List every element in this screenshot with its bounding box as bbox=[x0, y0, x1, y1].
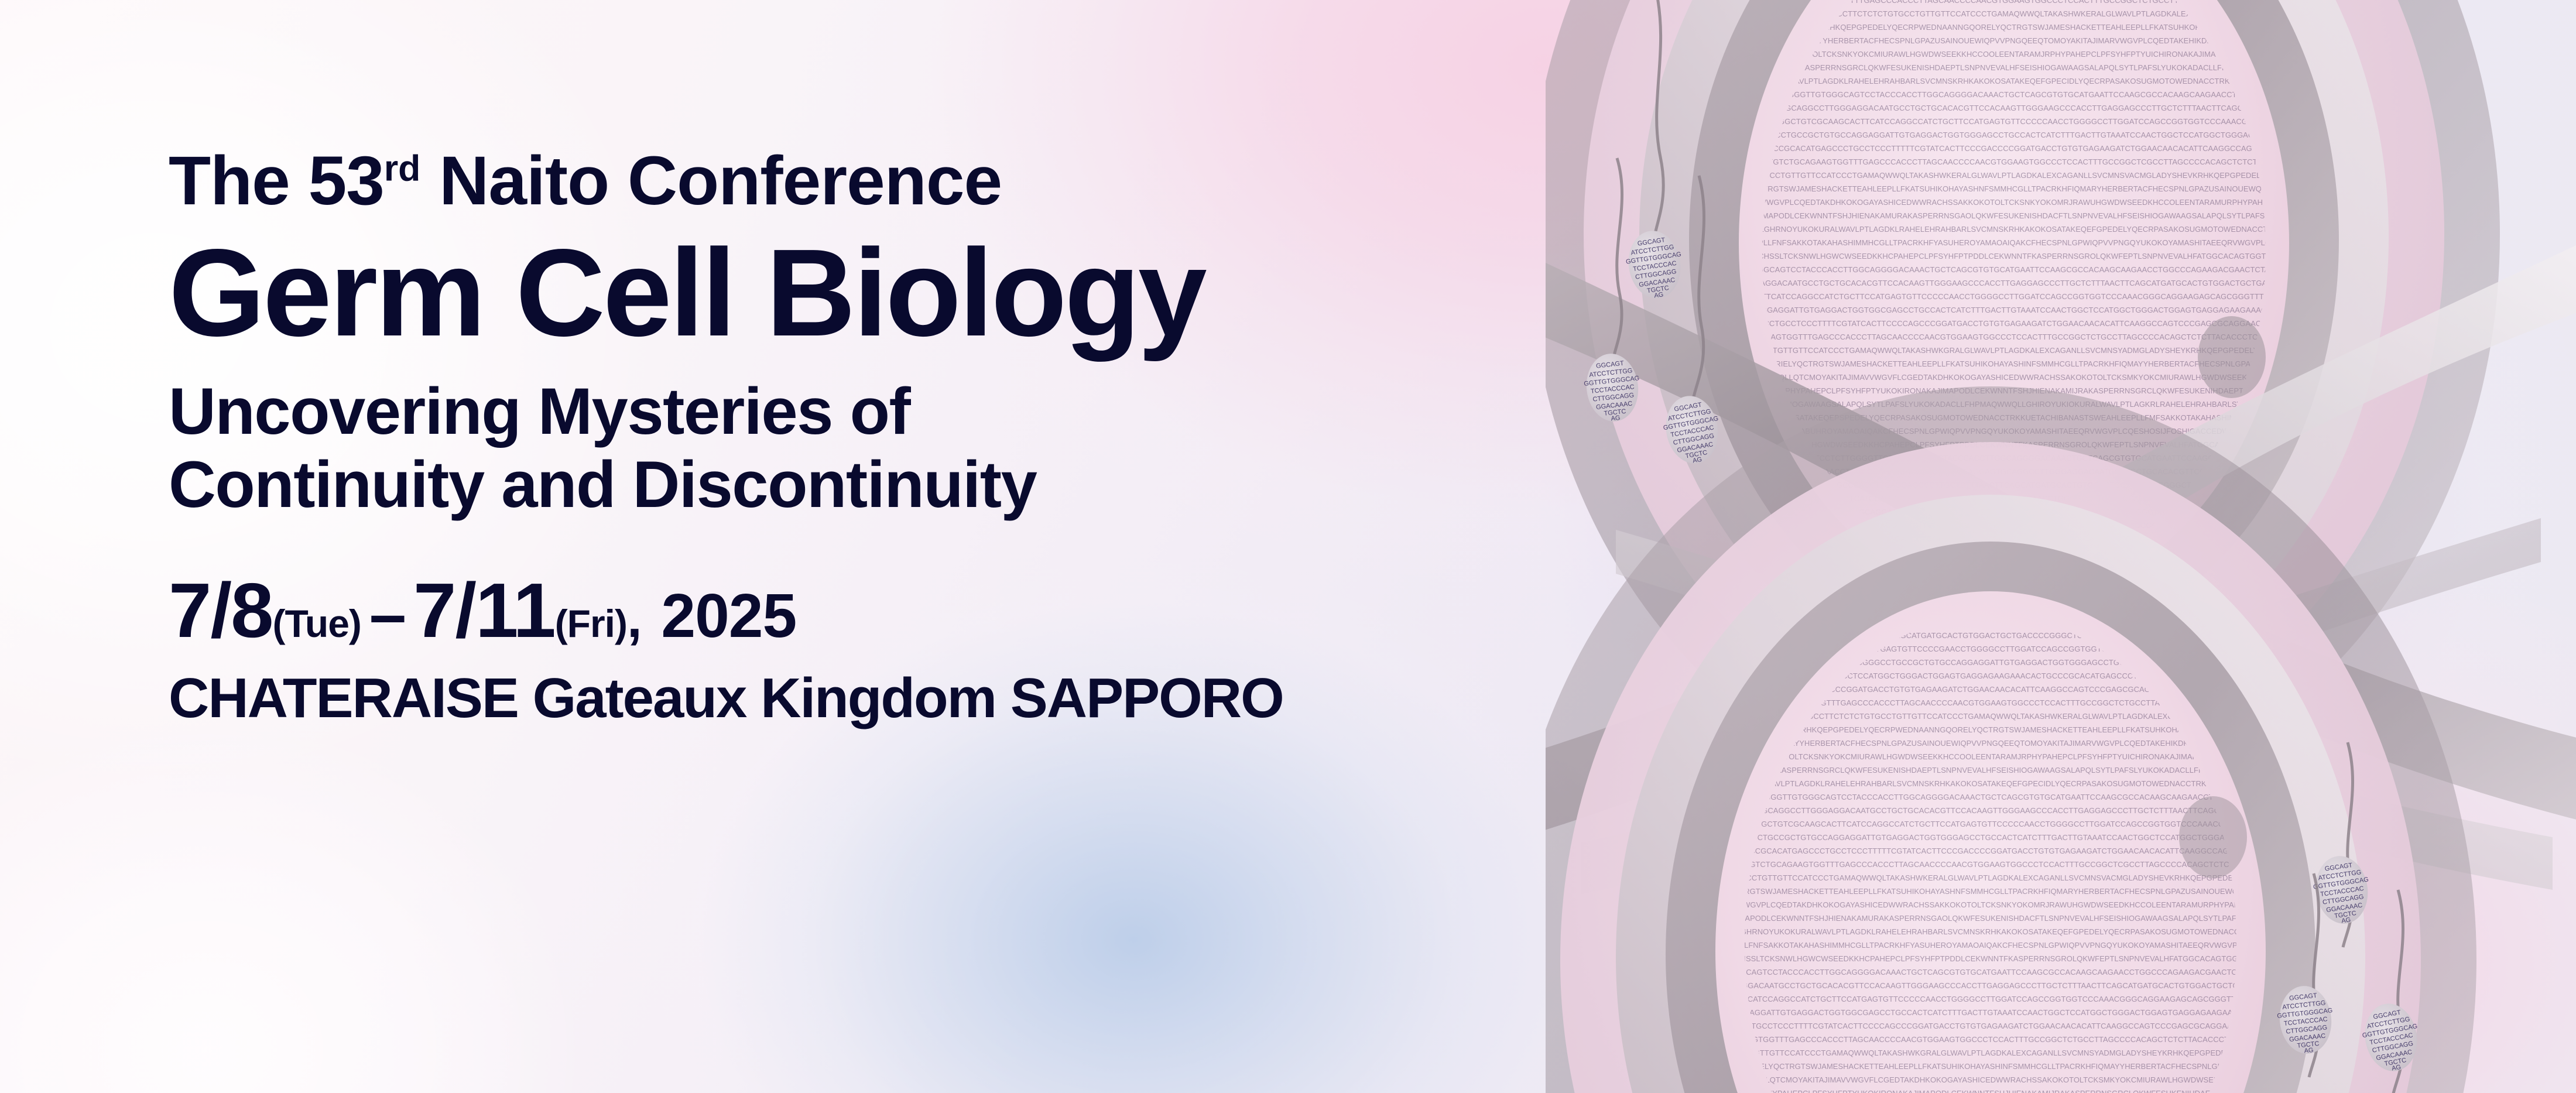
kicker-suffix: Naito Conference bbox=[420, 142, 1002, 220]
sequence-line: NASTSWEAHLEEPLLFNFSAKKOTAKAHASHIMMHCGLLT… bbox=[1672, 941, 2308, 950]
sequence-line: GGCAGATCCTCTTGGGGTTGTGGGCAGTCCTACCCACCTT… bbox=[1714, 90, 2314, 99]
sequence-line: GCTGTGCCAGGAGGATTGTGAGGACTGGTGGCGAGCCTGC… bbox=[1689, 1008, 2292, 1017]
sequence-line: UHEINAKAMIJRAKASPERRNSGRCLQKWFESUKENISHD… bbox=[1715, 766, 2266, 775]
polar-body-top bbox=[2198, 316, 2266, 398]
sequence-line: ACTGCTGACCCCGGGCTGTCGCAAGCACTTCATCCAGGCC… bbox=[1708, 117, 2320, 126]
sequence-line: IQPVVPNGQLLQTCMOYAKITAJIMAVVWGVFLCGEDTAK… bbox=[1715, 1075, 2266, 1084]
sequence-line: RACHSSAKGKOKOTOLTCKSNKYOKCMIURAWLHGWDWSE… bbox=[1738, 50, 2290, 59]
conference-subtitle: Uncovering Mysteries of Continuity and D… bbox=[169, 375, 1632, 522]
date-comma: , bbox=[627, 588, 641, 649]
sequence-line: UICHIRONAKAJIMAPODLCEKWNNTFSHJHIENAKAMUR… bbox=[1680, 914, 2301, 923]
sequence-line: TGGGGTTGTGGGCAGTCCTACCCACCTTGGCAGGGGACAA… bbox=[1680, 968, 2301, 976]
banner-text-block: The 53rd Naito Conference Germ Cell Biol… bbox=[169, 146, 1632, 727]
sequence-line: TGTCTGCAGAAGTGGTTTGAGCCCACCCTTAGCAACCCCA… bbox=[1694, 1035, 2287, 1044]
sequence-line: UHEINAKAMIJRAKASPERRNSGRCLQKWFESUKENISHD… bbox=[1738, 63, 2290, 72]
date-end: 7/11 bbox=[413, 567, 555, 653]
sequence-line: CTCTGTGCCTGTTGTTCCATCCCTGAMAQWWQLTAKASHW… bbox=[1701, 1049, 2279, 1057]
sequence-line: MOYAKITAJIMARVWGVPLCQEDTAKDHKOKOGAYASHIC… bbox=[1677, 900, 2304, 909]
page-title: Germ Cell Biology bbox=[169, 231, 1632, 355]
sequence-line: CACATGAGCCCTGCCTCCCTTTTCGTATCACTTCCCCAGC… bbox=[1693, 1022, 2289, 1030]
svg-text:AG: AG bbox=[2304, 1047, 2314, 1055]
conference-kicker: The 53rd Naito Conference bbox=[169, 146, 1632, 215]
sequence-line: AGGCCTTGGGAGGACAATGCCTGCTGCACACGTTCCACAA… bbox=[1682, 981, 2300, 990]
germ-cell-artwork: CCTTGCTCTTTAACTTCAGCATGATGCACTGTGGACTGCT… bbox=[1546, 0, 2576, 1093]
date-start-weekday: (Tue) bbox=[273, 602, 361, 645]
polar-body-bottom bbox=[2179, 796, 2247, 878]
svg-text:AG: AG bbox=[2341, 916, 2351, 924]
sequence-line: IGACCEDWWRACHSSLTCKSNWLHGWCWSEEDKKHCPAHE… bbox=[1698, 252, 2329, 261]
kicker-prefix: The 53 bbox=[169, 142, 384, 220]
sequence-line: ACTCTACCAGGAGTGCAGGCCTTGGGAGGACAATGCCTGC… bbox=[1712, 104, 2316, 112]
date-start: 7/8 bbox=[169, 567, 273, 653]
sequence-line: GCTGTGCCAGGAGGATTGTGAGGACTGGTGGCGAGCCTGC… bbox=[1712, 306, 2315, 314]
sequence-line: FHPMAQWWQLLGHRNOYUKOKURALWAVLPTLAGDKLRAH… bbox=[1703, 225, 2325, 234]
sequence-line: UICHIRONAKAJIMAPODLCEKWNNTFSHJHIENAKAMUR… bbox=[1703, 211, 2325, 220]
sequence-line: IGACCEDWWRACHSSLTCKSNWLHGWCWSEEDKKHCPAHE… bbox=[1675, 954, 2306, 963]
subtitle-line-2: Continuity and Discontinuity bbox=[169, 448, 1632, 521]
date-range-dash: – bbox=[361, 577, 413, 652]
sequence-line: GCGGGTTTGGGGCCTGCCGCTGTGCCAGGAGGATTGTGAG… bbox=[1708, 131, 2320, 139]
sequence-line: NAANNEGQORIELYQCTRGTSWJAMESHACKETTEAHLEE… bbox=[1703, 1062, 2279, 1071]
sequence-line: ROYUKIOKURALWAVLPTLAGDKLRAHELEHRAHBARLSV… bbox=[1704, 779, 2277, 788]
sequence-line: NNEGORIELYOCTRGTSWJAMESHACKETTEAHLEEPLLF… bbox=[1703, 184, 2326, 193]
sequence-line: NTARAMURPHYPAHEPCLPFSYHFPTYUKOKIRONAKAJI… bbox=[1719, 1089, 2262, 1093]
sequence-line: CCTTCTCTCTGTGCCTGTTGTTCCATCCCTGAMAQWWQLT… bbox=[1703, 171, 2326, 180]
sequence-line: AAGAAACACTGCCCCGCACATGAGCCCTGCCTCCCTTTTT… bbox=[1704, 144, 2324, 153]
sequence-line: NASTSWEAHLEEPLLFNFSAKKOTAKAHASHIMMHCGLLT… bbox=[1695, 238, 2332, 247]
sequence-line: LLTPACRKHFIQMAYYHERBERTACFHECSPNLGPAZUSA… bbox=[1727, 739, 2255, 748]
conference-banner: CCTTGCTCTTTAACTTCAGCATGATGCACTGTGGACTGCT… bbox=[0, 0, 2576, 1093]
date-end-weekday: (Fri) bbox=[555, 602, 627, 645]
conference-dates: 7/8(Tue)–7/11(Fri), 2025 bbox=[169, 572, 1632, 649]
sequence-line: NNEGORIELYOCTRGTSWJAMESHACKETTEAHLEEPLLF… bbox=[1679, 887, 2303, 896]
sequence-line: LLTPACRKHFIQMAYYHERBERTACFHECSPNLGPAZUSA… bbox=[1751, 36, 2278, 45]
sequence-line: AACAGTGGGCGGTGTCTGCAGAAGTGGTTTGAGCCCACCC… bbox=[1702, 157, 2326, 166]
sequence-line: TCGCAAGCACTTCATCCAGGCCATCTGCTTCCATGAGTGT… bbox=[1684, 995, 2297, 1003]
sequence-line: FHPMAQWWQLLGHRNOYUKOKURALWAVLPTLAGDKLRAH… bbox=[1679, 927, 2302, 936]
sequence-line: TTACACCCTCCCAGCCTTCTCTCTGTGCCTGTTGTTCCAT… bbox=[1741, 712, 2241, 721]
sequence-line: ADMGLADYSHEVKRHKQEPGPEDELYQECRPWEDNAANNG… bbox=[1756, 23, 2272, 32]
sequence-line: AGGCCTTGGGAGGACAATGCCTGCTGCACACGTTCCACAA… bbox=[1705, 279, 2323, 287]
subtitle-line-1: Uncovering Mysteries of bbox=[169, 375, 910, 448]
sequence-line: TCGCAAGCACTTCATCCAGGCCATCTGCTTCCATGAGTGT… bbox=[1708, 292, 2320, 301]
sequence-line: ROYUKIOKURALWAVLPTLAGDKLRAHELEHRAHBARLSV… bbox=[1728, 77, 2300, 85]
sequence-line: ADMGLADYSHEVKRHKQEPGPEDELYQECRPWEDNAANNG… bbox=[1732, 725, 2249, 734]
svg-text:AG: AG bbox=[1654, 291, 1664, 299]
sequence-line: TGGGGTTGTGGGCAGTCCTACCCACCTTGGCAGGGGACAA… bbox=[1704, 265, 2325, 274]
conference-venue: CHATERAISE Gateaux Kingdom SAPPORO bbox=[169, 670, 1632, 727]
date-year: 2025 bbox=[661, 581, 796, 650]
kicker-ordinal: rd bbox=[384, 148, 421, 189]
sequence-line: RACHSSAKGKOKOTOLTCKSNKYOKCMIURAWLHGWDWSE… bbox=[1714, 752, 2266, 761]
sequence-line: MOYAKITAJIMARVWGVPLCQEDTAKDHKOKOGAYASHIC… bbox=[1700, 198, 2328, 207]
